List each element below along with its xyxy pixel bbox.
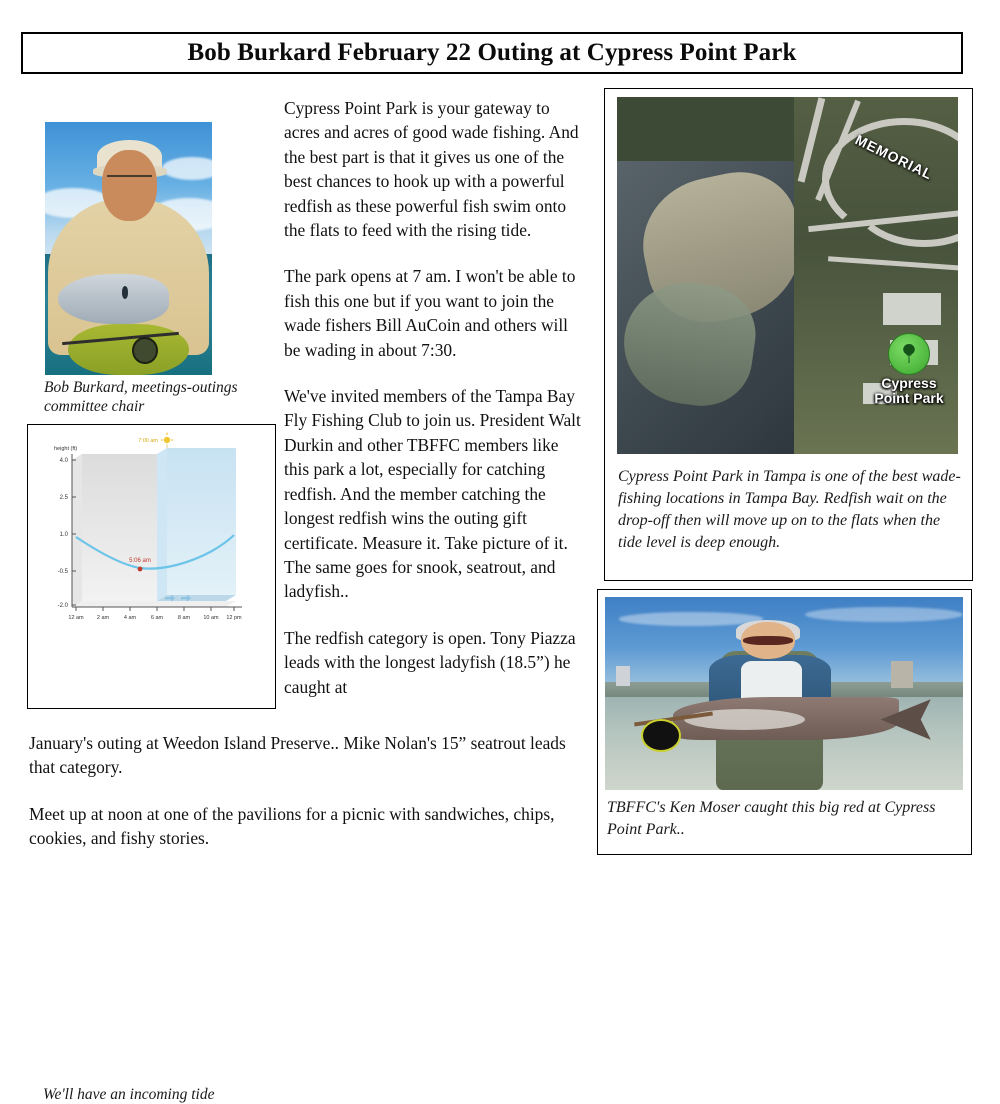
svg-text:2.5: 2.5 <box>60 495 69 501</box>
svg-text:-2.0: -2.0 <box>58 603 69 609</box>
redfish-figure-box: TBFFC's Ken Moser caught this big red at… <box>597 589 972 855</box>
page-title-box: Bob Burkard February 22 Outing at Cypres… <box>21 32 963 74</box>
svg-text:12 am: 12 am <box>68 615 84 621</box>
bob-burkard-photo <box>45 122 212 375</box>
redfish-caption: TBFFC's Ken Moser caught this big red at… <box>607 797 957 841</box>
page-title: Bob Burkard February 22 Outing at Cypres… <box>188 39 797 67</box>
map-caption: Cypress Point Park in Tampa is one of th… <box>618 466 962 554</box>
svg-text:height (ft): height (ft) <box>54 446 77 452</box>
svg-text:4 am: 4 am <box>124 615 137 621</box>
body-paragraph-1: Cypress Point Park is your gateway to ac… <box>284 96 584 242</box>
body-text-column: Cypress Point Park is your gateway to ac… <box>284 96 584 721</box>
svg-text:-0.5: -0.5 <box>58 569 69 575</box>
map-park-label-line2: Point Park <box>874 390 943 406</box>
sun-icon <box>161 433 173 444</box>
svg-text:1.0: 1.0 <box>60 532 69 538</box>
svg-text:10 am: 10 am <box>203 615 219 621</box>
tide-chart: 4.0 2.5 1.0 -0.5 -2.0 height (ft) 5:06 a… <box>30 427 275 642</box>
map-figure-box: MEMORIAL Cypress Point Park Cypress Poin… <box>604 88 973 581</box>
bob-burkard-caption: Bob Burkard, meetings-outings committee … <box>44 378 279 416</box>
tide-chart-caption: We'll have an incoming tide <box>43 1085 268 1104</box>
svg-text:12 pm: 12 pm <box>226 615 242 621</box>
svg-text:7:00 am: 7:00 am <box>138 438 158 444</box>
map-park-marker: Cypress Point Park <box>857 333 958 406</box>
svg-text:2 am: 2 am <box>97 615 110 621</box>
svg-text:4.0: 4.0 <box>60 458 69 464</box>
body-paragraph-3: We've invited members of the Tampa Bay F… <box>284 384 584 604</box>
aerial-map-photo: MEMORIAL Cypress Point Park <box>617 97 958 454</box>
body-paragraph-2: The park opens at 7 am. I won't be able … <box>284 264 584 362</box>
svg-text:5:06 am: 5:06 am <box>129 558 151 564</box>
map-park-label-line1: Cypress <box>881 375 936 391</box>
tide-chart-box: 4.0 2.5 1.0 -0.5 -2.0 height (ft) 5:06 a… <box>27 424 276 709</box>
park-tree-icon <box>888 333 930 375</box>
body-paragraph-4: The redfish category is open. Tony Piazz… <box>284 626 584 699</box>
body-paragraph-5: January's outing at Weedon Island Preser… <box>29 731 589 780</box>
body-paragraph-6: Meet up at noon at one of the pavilions … <box>29 802 589 851</box>
newsletter-page: Bob Burkard February 22 Outing at Cypres… <box>0 0 1000 878</box>
svg-text:8 am: 8 am <box>178 615 191 621</box>
body-text-wide: January's outing at Weedon Island Preser… <box>29 731 589 873</box>
ken-moser-photo <box>605 597 963 790</box>
svg-text:6 am: 6 am <box>151 615 164 621</box>
